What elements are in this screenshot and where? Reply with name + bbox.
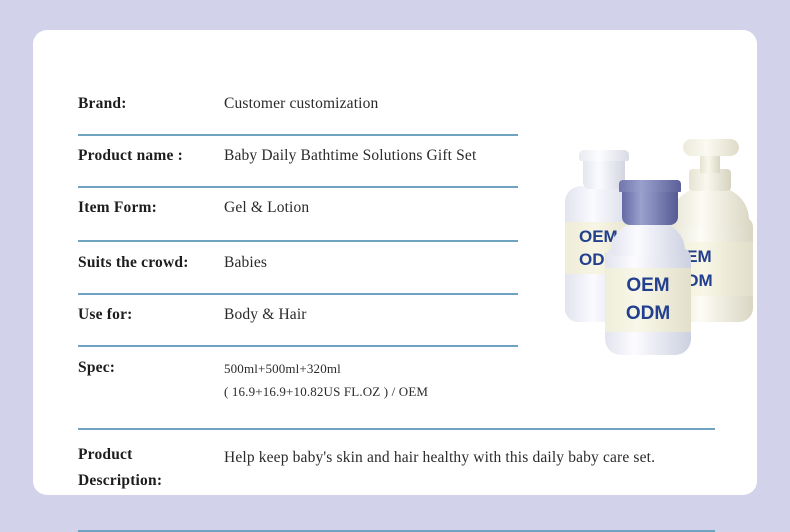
bottle-center-neck bbox=[622, 191, 678, 225]
bottle-left-cap bbox=[579, 150, 629, 161]
product-spec-card: Brand: Customer customization Product na… bbox=[33, 30, 757, 495]
row-label-product-description: Product Description: bbox=[78, 442, 224, 493]
bottle-center-cap bbox=[619, 180, 681, 192]
row-label-product-name: Product name : bbox=[78, 146, 224, 165]
bottle-right-pump-stem bbox=[700, 153, 720, 173]
bottle-center-label-oem: OEM bbox=[605, 276, 691, 295]
table-row-brand: Brand: Customer customization bbox=[78, 85, 715, 134]
bottle-center-shoulder bbox=[611, 222, 685, 256]
bottle-right-pump-head bbox=[683, 139, 739, 156]
row-label-spec: Spec: bbox=[78, 358, 224, 377]
product-photo: OEM ODM OEM ODM bbox=[557, 135, 767, 367]
row-label-brand: Brand: bbox=[78, 94, 224, 113]
page-root: Brand: Customer customization Product na… bbox=[0, 0, 790, 531]
description-label-line-2: Description: bbox=[78, 468, 224, 494]
row-label-use-for: Use for: bbox=[78, 305, 224, 324]
table-row-product-description: Product Description: Help keep baby's sk… bbox=[78, 430, 715, 530]
row-value-brand: Customer customization bbox=[224, 94, 715, 114]
row-label-suits-the-crowd: Suits the crowd: bbox=[78, 253, 224, 272]
description-label-line-1: Product bbox=[78, 442, 224, 468]
row-value-product-description: Help keep baby's skin and hair healthy w… bbox=[224, 442, 715, 473]
bottle-center-label-odm: ODM bbox=[605, 304, 691, 323]
bottle-center: OEM ODM bbox=[605, 180, 691, 355]
bottle-center-label: OEM ODM bbox=[605, 268, 691, 332]
row-label-item-form: Item Form: bbox=[78, 198, 224, 217]
spec-line-flounce: ( 16.9+16.9+10.82US FL.OZ ) / OEM bbox=[224, 381, 715, 404]
